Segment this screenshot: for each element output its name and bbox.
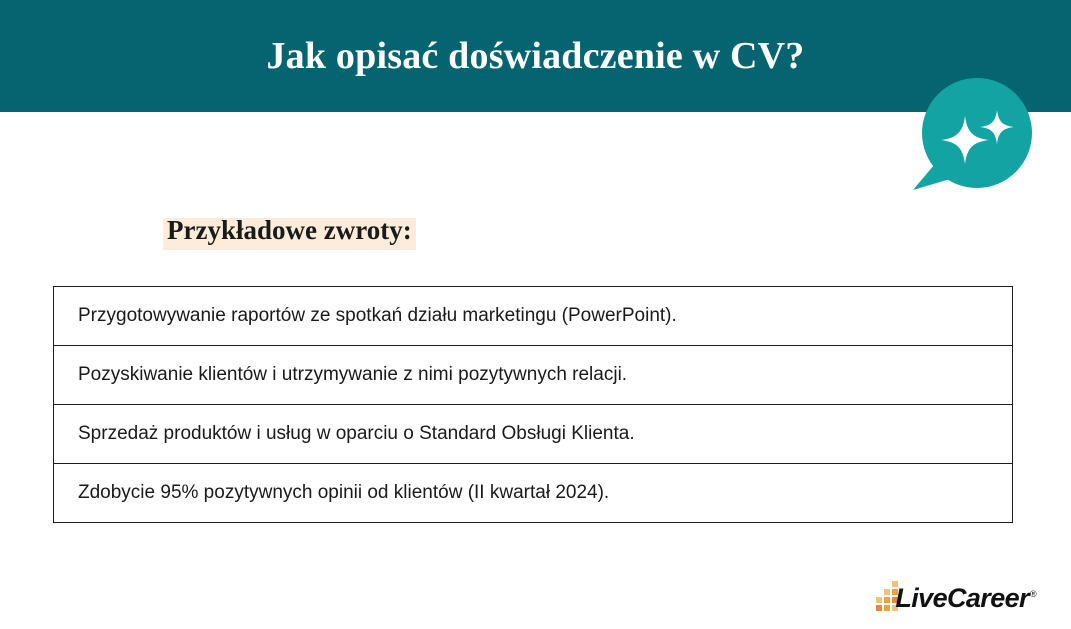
slide-canvas: Jak opisać doświadczenie w CV? Przykłado… — [0, 0, 1071, 629]
table-row: Zdobycie 95% pozytywnych opinii od klien… — [54, 464, 1013, 523]
phrase-cell: Pozyskiwanie klientów i utrzymywanie z n… — [54, 346, 1013, 405]
logo-squares-icon — [876, 585, 890, 611]
phrase-cell: Sprzedaż produktów i usług w oparciu o S… — [54, 405, 1013, 464]
logo-wordmark: LiveCareer® — [895, 585, 1036, 612]
phrase-cell: Zdobycie 95% pozytywnych opinii od klien… — [54, 464, 1013, 523]
logo-name: LiveCareer — [895, 583, 1029, 613]
table-row: Przygotowywanie raportów ze spotkań dzia… — [54, 287, 1013, 346]
table-row: Pozyskiwanie klientów i utrzymywanie z n… — [54, 346, 1013, 405]
section-heading-label: Przykładowe zwroty: — [167, 215, 412, 245]
table-row: Sprzedaż produktów i usług w oparciu o S… — [54, 405, 1013, 464]
livecareer-logo: LiveCareer® — [876, 578, 1036, 612]
example-phrases-table: Przygotowywanie raportów ze spotkań dzia… — [53, 286, 1013, 523]
speech-bubble-sparkle-icon — [905, 78, 1045, 193]
logo-trademark: ® — [1030, 589, 1036, 599]
section-heading: Przykładowe zwroty: — [163, 212, 416, 250]
phrase-cell: Przygotowywanie raportów ze spotkań dzia… — [54, 287, 1013, 346]
